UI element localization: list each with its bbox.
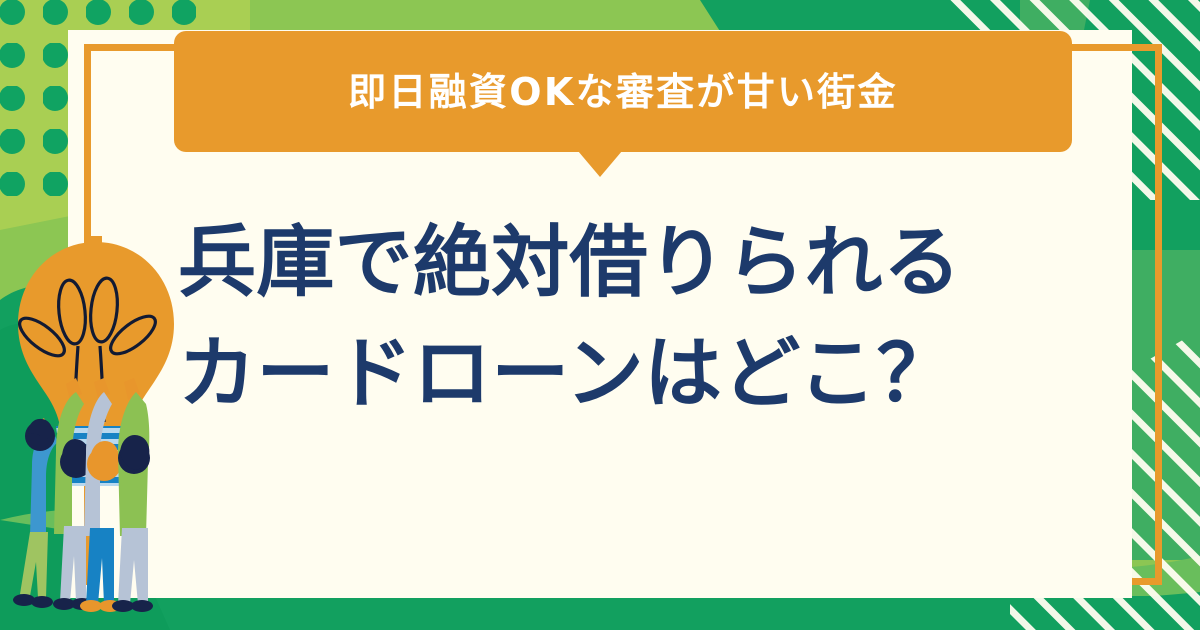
bulb-tip	[90, 236, 102, 248]
lightbulb-icon	[0, 236, 210, 630]
page-title-line-2: カードローンはどこ？	[178, 319, 1058, 430]
banner-pointer-triangle	[578, 151, 622, 177]
lightbulb-team-illustration	[0, 236, 210, 630]
banner-label: 即日融資OKな審査が甘い街金	[348, 73, 898, 111]
banner: 即日融資OKな審査が甘い街金	[174, 31, 1072, 152]
page-title: 兵庫で絶対借りられる カードローンはどこ？	[178, 208, 1058, 430]
banner-body: 即日融資OKな審査が甘い街金	[174, 31, 1072, 152]
page-title-line-1: 兵庫で絶対借りられる	[178, 208, 1058, 319]
person-1	[13, 418, 58, 608]
